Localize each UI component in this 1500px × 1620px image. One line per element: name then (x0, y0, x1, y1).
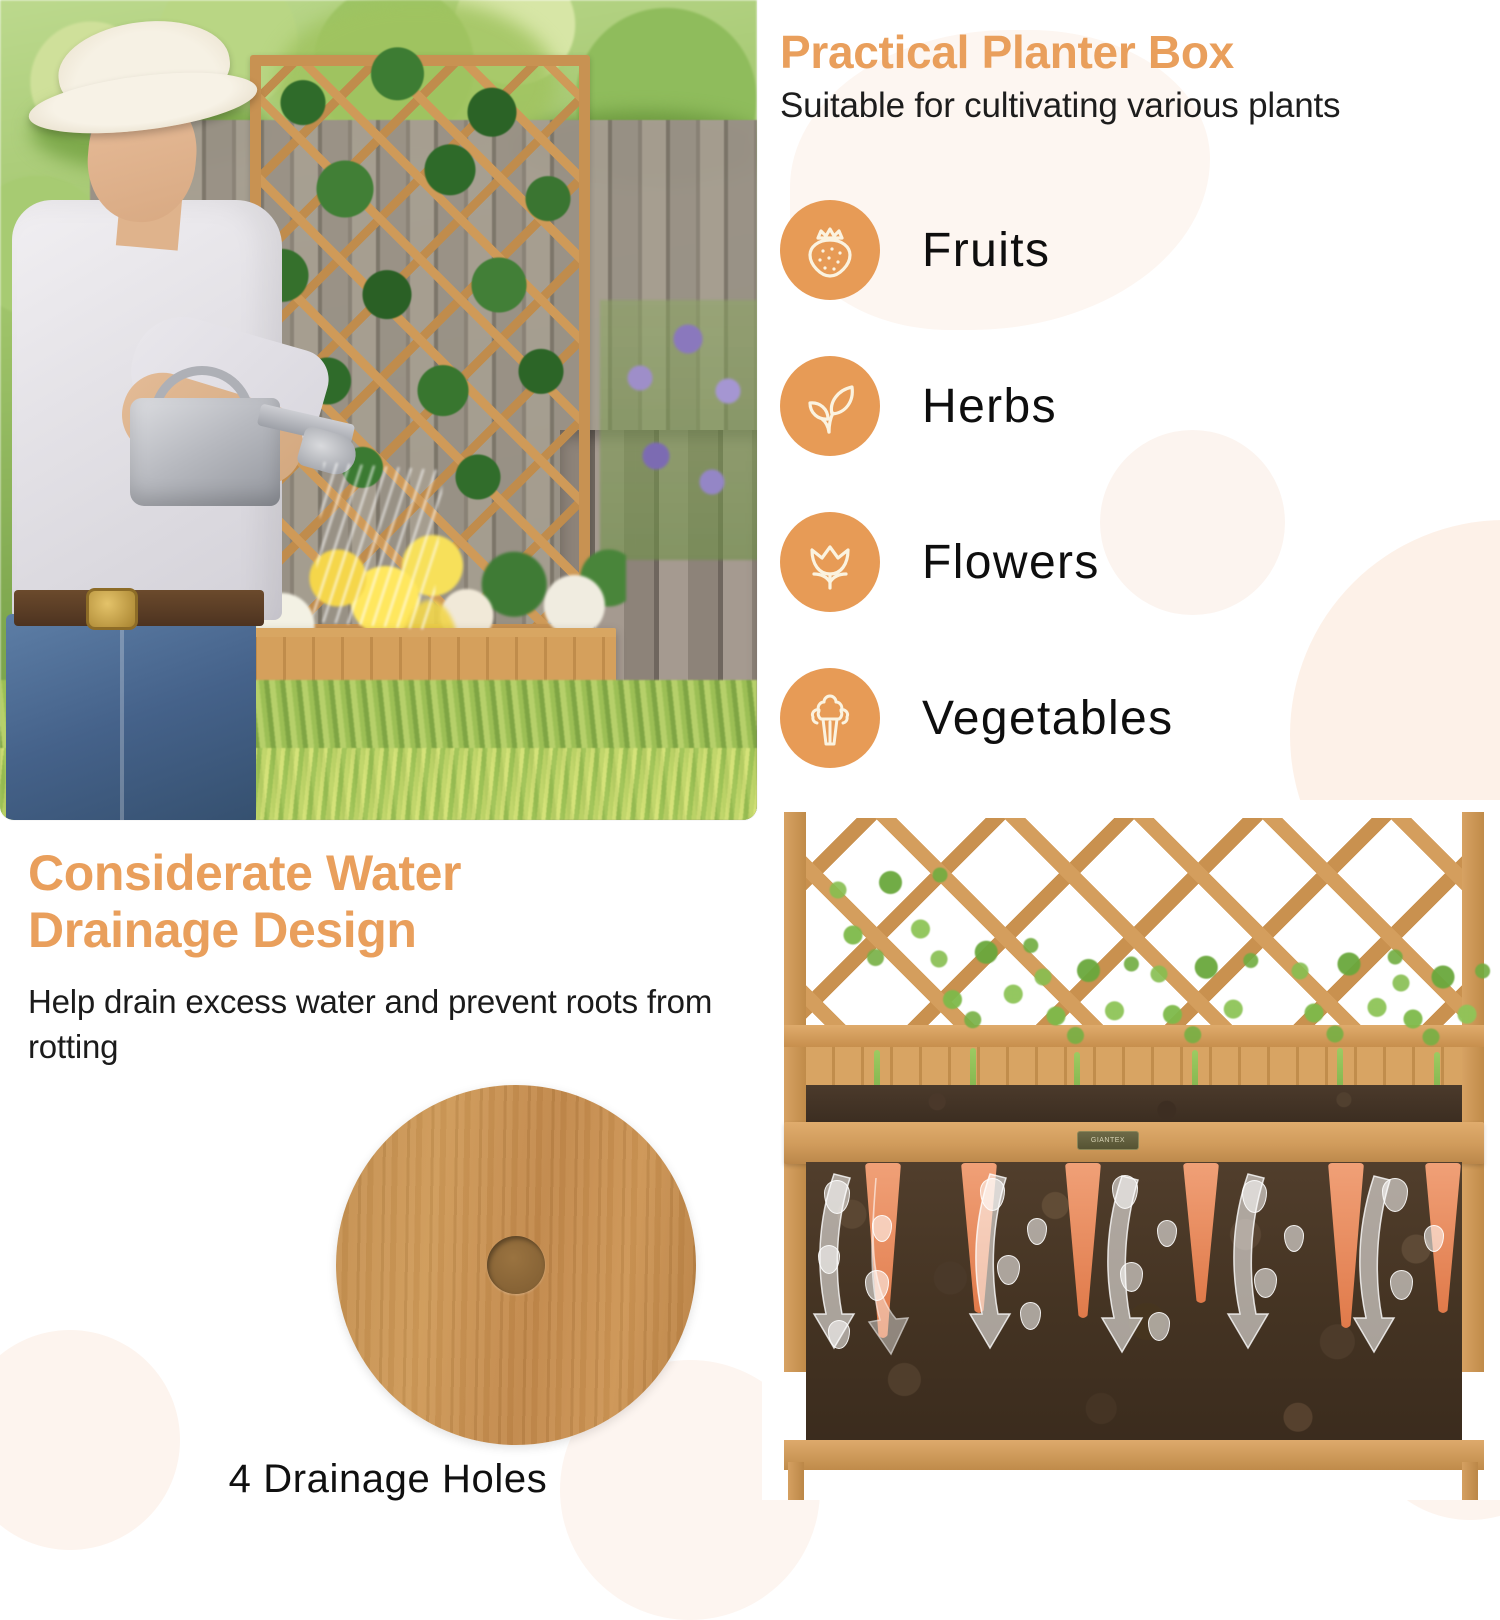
cs-post-right (1462, 812, 1484, 1372)
drainage-title-line2: Drainage Design (28, 902, 748, 959)
photo-jeans-seam (120, 620, 124, 820)
feature-item-herbs: Herbs (780, 328, 1500, 484)
practical-planter-section: Practical Planter Box Suitable for culti… (780, 28, 1500, 798)
feature-section-subtitle: Suitable for cultivating various plants (780, 86, 1500, 126)
drainage-hole (487, 1236, 545, 1294)
leaves-icon (780, 356, 880, 456)
drainage-title-line1: Considerate Water (28, 845, 748, 902)
feature-label-fruits: Fruits (922, 223, 1050, 278)
drainage-crosssection-illustration: GIANTEX (762, 800, 1500, 1500)
cs-carrot-foliage-6 (1377, 935, 1497, 1055)
feature-section-title: Practical Planter Box (780, 28, 1500, 76)
drainage-caption: 4 Drainage Holes (28, 1457, 748, 1502)
feature-item-vegetables: Vegetables (780, 640, 1500, 796)
feature-label-flowers: Flowers (922, 535, 1100, 590)
drainage-hole-closeup (336, 1085, 696, 1445)
cs-bottom-rail (784, 1440, 1484, 1470)
brand-nameplate-text: GIANTEX (1091, 1137, 1125, 1144)
drainage-title: Considerate Water Drainage Design (28, 845, 748, 958)
wood-disc (336, 1085, 696, 1445)
drainage-section: Considerate Water Drainage Design Help d… (28, 845, 748, 1485)
photo-water-spray (313, 462, 444, 630)
photo-lavender-bush (600, 300, 757, 560)
feature-label-vegetables: Vegetables (922, 691, 1174, 746)
drainage-subtitle: Help drain excess water and prevent root… (28, 980, 718, 1069)
cs-carrot-foliage-3 (1017, 925, 1147, 1055)
feature-label-herbs: Herbs (922, 379, 1057, 434)
feature-item-flowers: Flowers (780, 484, 1500, 640)
photo-man-jeans (6, 614, 256, 820)
photo-belt-buckle (86, 588, 138, 630)
feature-list: Fruits Herbs F (780, 172, 1500, 796)
cs-leg-left (788, 1462, 804, 1500)
broccoli-icon (780, 668, 880, 768)
feature-item-fruits: Fruits (780, 172, 1500, 328)
cs-surface-soil (806, 1085, 1462, 1127)
lifestyle-photo-watering (0, 0, 757, 820)
tulip-icon (780, 512, 880, 612)
brand-nameplate: GIANTEX (1077, 1131, 1139, 1150)
photo-watering-can (130, 398, 280, 506)
photo-man-belt (14, 590, 264, 626)
cs-leg-right (1462, 1462, 1478, 1500)
water-flow-arrows (802, 1168, 1462, 1448)
cs-carrot-foliage-4 (1132, 920, 1267, 1055)
strawberry-icon (780, 200, 880, 300)
